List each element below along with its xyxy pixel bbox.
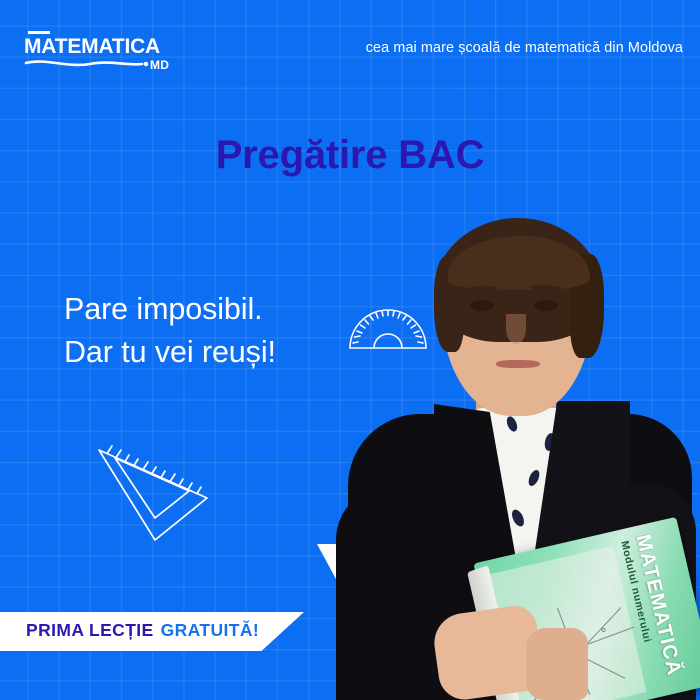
portrait-nose [506,314,526,344]
portrait-eye-left [470,300,494,311]
matematica-md-logo[interactable]: MATEMATICA MD [24,27,174,77]
offer-ribbon-text[interactable]: PRIMA LECȚIE GRATUITĂ! [26,611,259,650]
offer-text-primary: PRIMA LECȚIE [26,620,154,641]
triangle-ruler-icon [93,440,218,545]
logo-mark: MATEMATICA MD [24,27,174,77]
svg-text:MD: MD [150,58,169,72]
svg-text:MATEMATICA: MATEMATICA [24,35,160,58]
page-title: Pregătire BAC [0,133,700,177]
portrait-hand-right [526,628,588,700]
offer-text-highlight: GRATUITĂ! [161,620,260,641]
portrait-eye-right [534,300,558,311]
poster-header: MATEMATICA MD cea mai mare școală de mat… [0,0,700,92]
teacher-portrait: MATEMATICĂ Modulul numerului [330,196,700,700]
portrait-mouth [496,360,540,368]
promo-poster: MATEMATICA MD cea mai mare școală de mat… [0,0,700,700]
slogan-line-1: Pare imposibil. [64,288,276,331]
slogan-line-2: Dar tu vei reuși! [64,331,276,374]
header-tagline: cea mai mare școală de matematică din Mo… [366,40,683,56]
slogan-block: Pare imposibil. Dar tu vei reuși! [64,288,276,375]
